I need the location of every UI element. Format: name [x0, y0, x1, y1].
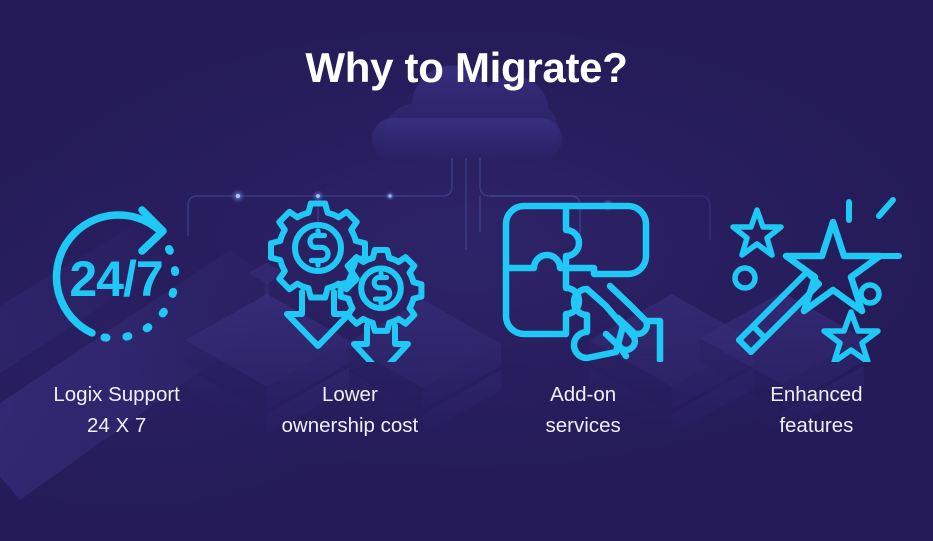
page-title: Why to Migrate?	[0, 44, 933, 92]
svg-text:24/7: 24/7	[69, 251, 162, 307]
24-7-clock-arrow-icon: 24/7	[32, 190, 202, 365]
benefit-card-add-on-services[interactable]: Add-on services	[467, 190, 700, 441]
benefit-card-label: Add-on services	[546, 379, 621, 441]
benefit-card-label: Enhanced features	[770, 379, 862, 441]
benefit-card-label: Logix Support 24 X 7	[53, 379, 180, 441]
benefit-card-enhanced-features[interactable]: Enhanced features	[700, 190, 933, 441]
magic-wand-stars-icon	[727, 190, 905, 365]
benefit-card-lower-ownership-cost[interactable]: Lower ownership cost	[233, 190, 466, 441]
benefit-card-logix-support[interactable]: 24/7 Logix Support 24 X 7	[0, 190, 233, 441]
benefits-row: 24/7 Logix Support 24 X 7	[0, 190, 933, 441]
puzzle-hand-icon	[494, 190, 672, 365]
gears-dollar-down-arrow-icon	[262, 190, 437, 365]
benefit-card-label: Lower ownership cost	[282, 379, 419, 441]
infographic-stage: Why to Migrate? 24/7 Lo	[0, 0, 933, 541]
